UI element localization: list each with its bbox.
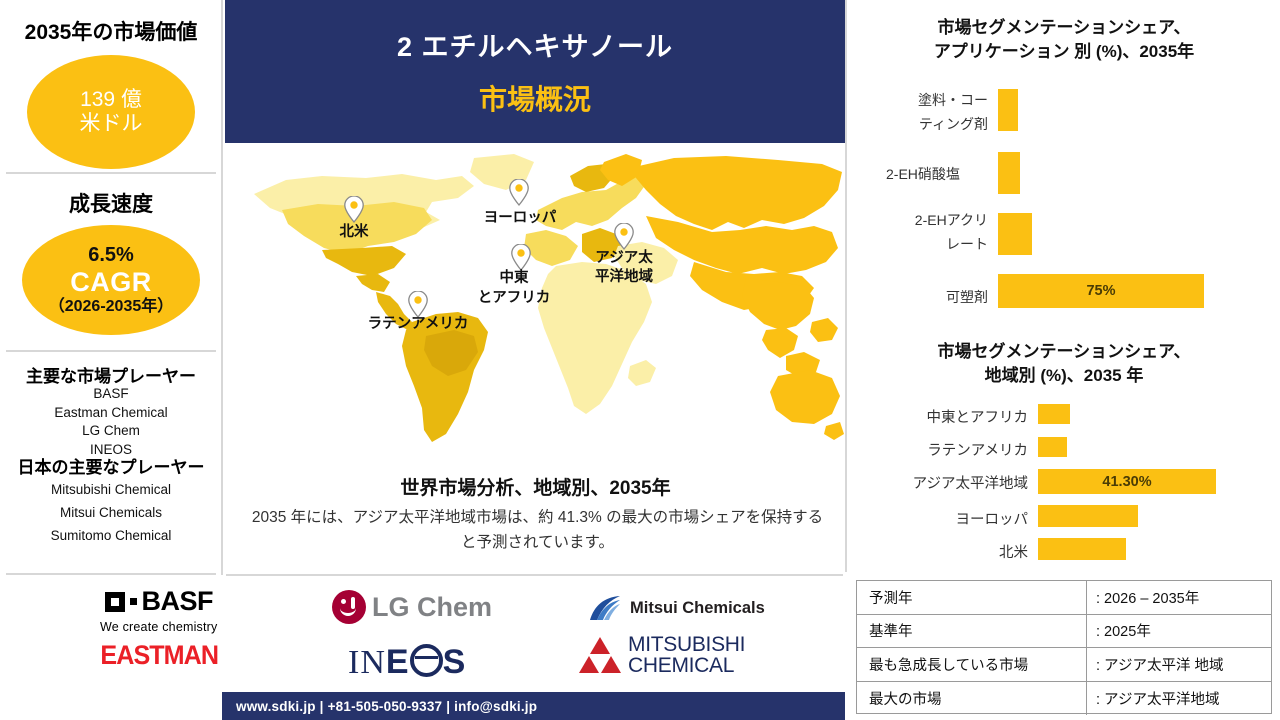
table-cell-value: : アジア太平洋地域 [1087, 682, 1271, 716]
application-segmentation-chart: 塗料・コー ティング剤 2-EH硝酸塩 2-EHアクリ レート 可塑剤 75% [848, 84, 1280, 324]
bar-asia-pacific: 41.30% [1038, 469, 1216, 494]
logo-eastman: EASTMAN [96, 640, 223, 671]
largest-market-value: : アジア太平洋地域 [1096, 688, 1219, 709]
base-year-label: 基準年 [869, 620, 913, 641]
region-chart-title: 市場セグメンテーションシェア、 地域別 (%)、2035 年 [848, 340, 1280, 388]
map-pin-middle-east-africa-icon [511, 244, 531, 271]
page-subtitle: 市場概況 [479, 78, 591, 118]
list-item: Eastman Chemical [0, 404, 222, 423]
page-title: 2 エチルヘキサノール [397, 25, 673, 64]
table-cell-key: 予測年 [857, 581, 1087, 614]
map-label-middle-east-africa-line2: とアフリカ [466, 290, 562, 307]
bar-label: 2-EH硝酸塩 [860, 164, 988, 184]
list-item: LG Chem [0, 422, 222, 441]
table-row: 予測年 : 2026 – 2035年 [857, 581, 1271, 615]
market-value-title: 2035年の市場価値 [0, 16, 222, 46]
bar-label: アジア太平洋地域 [860, 472, 1028, 493]
bar-latin-america [1038, 437, 1067, 457]
key-players-title: 主要な市場プレーヤー [0, 362, 222, 387]
table-cell-value: : アジア太平洋 地域 [1087, 648, 1271, 681]
logo-ineos: IN E S [348, 640, 465, 682]
bar-label: ティング剤 [860, 114, 988, 134]
report-scope-table: 予測年 : 2026 – 2035年 基準年 : 2025年 最も急成長している… [856, 580, 1272, 714]
bar-europe [1038, 505, 1138, 527]
lg-face-icon [332, 590, 366, 624]
list-item: Mitsubishi Chemical [0, 478, 222, 501]
list-item: BASF [0, 385, 222, 404]
map-pin-latin-america-icon [408, 291, 428, 318]
left-summary-column: 2035年の市場価値 139 億 米ドル 成長速度 6.5% CAGR （202… [0, 0, 222, 575]
fastest-growing-market-value: : アジア太平洋 地域 [1096, 654, 1224, 675]
bar-value-label: 41.30% [1102, 474, 1151, 490]
right-charts-column: 市場セグメンテーションシェア、 アプリケーション 別 (%)、2035年 塗料・… [848, 0, 1280, 572]
map-pin-north-america-icon [344, 196, 364, 223]
application-chart-title-line1: 市場セグメンテーションシェア、 [848, 16, 1280, 40]
region-chart-title-line1: 市場セグメンテーションシェア、 [848, 340, 1280, 364]
basf-tagline: We create chemistry [100, 620, 218, 634]
bar-label: ラテンアメリカ [868, 439, 1028, 460]
map-label-latin-america: ラテンアメリカ [336, 316, 500, 333]
largest-market-label: 最大の市場 [869, 688, 942, 709]
map-pin-europe-icon [509, 179, 529, 206]
cagr-period: （2026-2035年） [49, 298, 174, 316]
bar-label: 可塑剤 [860, 287, 988, 307]
list-item: Sumitomo Chemical [0, 524, 222, 547]
lg-chem-wordmark: LG Chem [372, 592, 492, 623]
map-label-asia-pacific-line2: 平洋地域 [584, 269, 664, 286]
map-label-middle-east-africa-line1: 中東 [476, 270, 552, 287]
bar-value-label: 75% [1086, 283, 1115, 299]
map-label-north-america: 北米 [322, 224, 386, 241]
divider-center-horizontal [226, 574, 843, 576]
mitsubishi-wordmark-line2: CHEMICAL [628, 655, 745, 676]
logo-mitsui-chemicals: Mitsui Chemicals [588, 594, 765, 622]
logo-basf: BASF We create chemistry [100, 586, 218, 634]
forecast-year-label: 予測年 [869, 587, 913, 608]
table-row: 最大の市場 : アジア太平洋地域 [857, 682, 1271, 716]
bar-label: 中東とアフリカ [868, 406, 1028, 427]
eastman-wordmark: EASTMAN [100, 640, 218, 671]
bar-label: 北米 [868, 541, 1028, 562]
bar-plasticizer: 75% [998, 274, 1204, 308]
logo-mitsubishi-chemical: MITSUBISHI CHEMICAL [578, 634, 745, 676]
key-players-list: BASF Eastman Chemical LG Chem INEOS [0, 385, 222, 459]
market-value-amount: 139 億 [80, 88, 142, 112]
divider-left-vertical [221, 0, 223, 575]
map-caption-body: 2035 年には、アジア太平洋地域市場は、約 41.3% の最大の市場シェアを保… [250, 505, 825, 555]
ineos-wordmark-s: S [443, 643, 466, 682]
table-cell-value: : 2026 – 2035年 [1087, 581, 1271, 614]
bar-label: 2-EHアクリ [860, 210, 988, 230]
list-item: Mitsui Chemicals [0, 501, 222, 524]
japan-players-list: Mitsubishi Chemical Mitsui Chemicals Sum… [0, 478, 222, 547]
cagr-label: CAGR [70, 267, 152, 298]
market-value-currency: 米ドル [80, 112, 143, 136]
bar-paints-coatings [998, 89, 1018, 131]
growth-rate-title: 成長速度 [0, 188, 222, 218]
basf-wordmark: BASF [142, 586, 214, 617]
mitsubishi-wordmark-line1: MITSUBISHI [628, 634, 745, 655]
ineos-wordmark-e: E [386, 643, 409, 682]
divider-1 [6, 172, 216, 174]
footer-contact-bar: www.sdki.jp | +81-505-050-9337 | info@sd… [222, 692, 845, 720]
infographic-page: 2035年の市場価値 139 億 米ドル 成長速度 6.5% CAGR （202… [0, 0, 1280, 720]
bar-label: 塗料・コー [860, 90, 988, 110]
table-cell-value: : 2025年 [1087, 615, 1271, 648]
mitsubishi-wordmark: MITSUBISHI CHEMICAL [628, 634, 745, 676]
report-header: 2 エチルヘキサノール 市場概況 [225, 0, 845, 143]
table-cell-key: 基準年 [857, 615, 1087, 648]
divider-2 [6, 350, 216, 352]
table-row: 基準年 : 2025年 [857, 615, 1271, 649]
mitsubishi-three-diamonds-icon [578, 635, 622, 675]
ineos-wordmark-in: IN [348, 644, 386, 682]
map-caption-title: 世界市場分析、地域別、2035年 [226, 473, 845, 500]
world-map-panel: 北米 ヨーロッパ 中東 とアフリカ アジア太 平洋地域 ラテンアメリカ [226, 144, 845, 474]
region-chart-title-line2: 地域別 (%)、2035 年 [848, 364, 1280, 388]
table-cell-key: 最も急成長している市場 [857, 648, 1087, 681]
application-chart-title-line2: アプリケーション 別 (%)、2035年 [848, 40, 1280, 64]
japan-players-title: 日本の主要なプレーヤー [0, 453, 222, 478]
cagr-bubble: 6.5% CAGR （2026-2035年） [22, 225, 200, 335]
map-label-asia-pacific-line1: アジア太 [584, 250, 664, 267]
mitsui-wave-icon [588, 594, 622, 622]
table-row: 最も急成長している市場 : アジア太平洋 地域 [857, 648, 1271, 682]
ineos-ring-icon [410, 644, 443, 677]
divider-3 [6, 573, 216, 575]
company-logos-band: BASF We create chemistry EASTMAN LG Chem… [0, 578, 845, 688]
map-label-europe: ヨーロッパ [466, 210, 574, 227]
bar-middle-east-africa [1038, 404, 1070, 424]
logo-lg-chem: LG Chem [332, 590, 492, 624]
bar-label: レート [860, 234, 988, 254]
application-chart-title: 市場セグメンテーションシェア、 アプリケーション 別 (%)、2035年 [848, 16, 1280, 64]
map-pin-asia-pacific-icon [614, 223, 634, 250]
bar-2eh-acrylate [998, 213, 1032, 255]
bar-2eh-nitrate [998, 152, 1020, 194]
fastest-growing-market-label: 最も急成長している市場 [869, 654, 1028, 675]
footer-contact-text: www.sdki.jp | +81-505-050-9337 | info@sd… [236, 699, 537, 714]
forecast-year-value: : 2026 – 2035年 [1096, 587, 1199, 608]
bar-label: ヨーロッパ [868, 508, 1028, 529]
bar-north-america [1038, 538, 1126, 560]
mitsui-wordmark: Mitsui Chemicals [630, 599, 765, 618]
market-value-bubble: 139 億 米ドル [27, 55, 195, 169]
basf-square-icon [105, 592, 125, 612]
base-year-value: : 2025年 [1096, 620, 1151, 641]
region-segmentation-chart: 中東とアフリカ ラテンアメリカ アジア太平洋地域 41.30% ヨーロッパ 北米 [848, 398, 1280, 568]
divider-right-vertical [845, 0, 847, 572]
basf-dot-icon [130, 598, 137, 605]
table-cell-key: 最大の市場 [857, 682, 1087, 716]
cagr-value: 6.5% [88, 244, 134, 267]
